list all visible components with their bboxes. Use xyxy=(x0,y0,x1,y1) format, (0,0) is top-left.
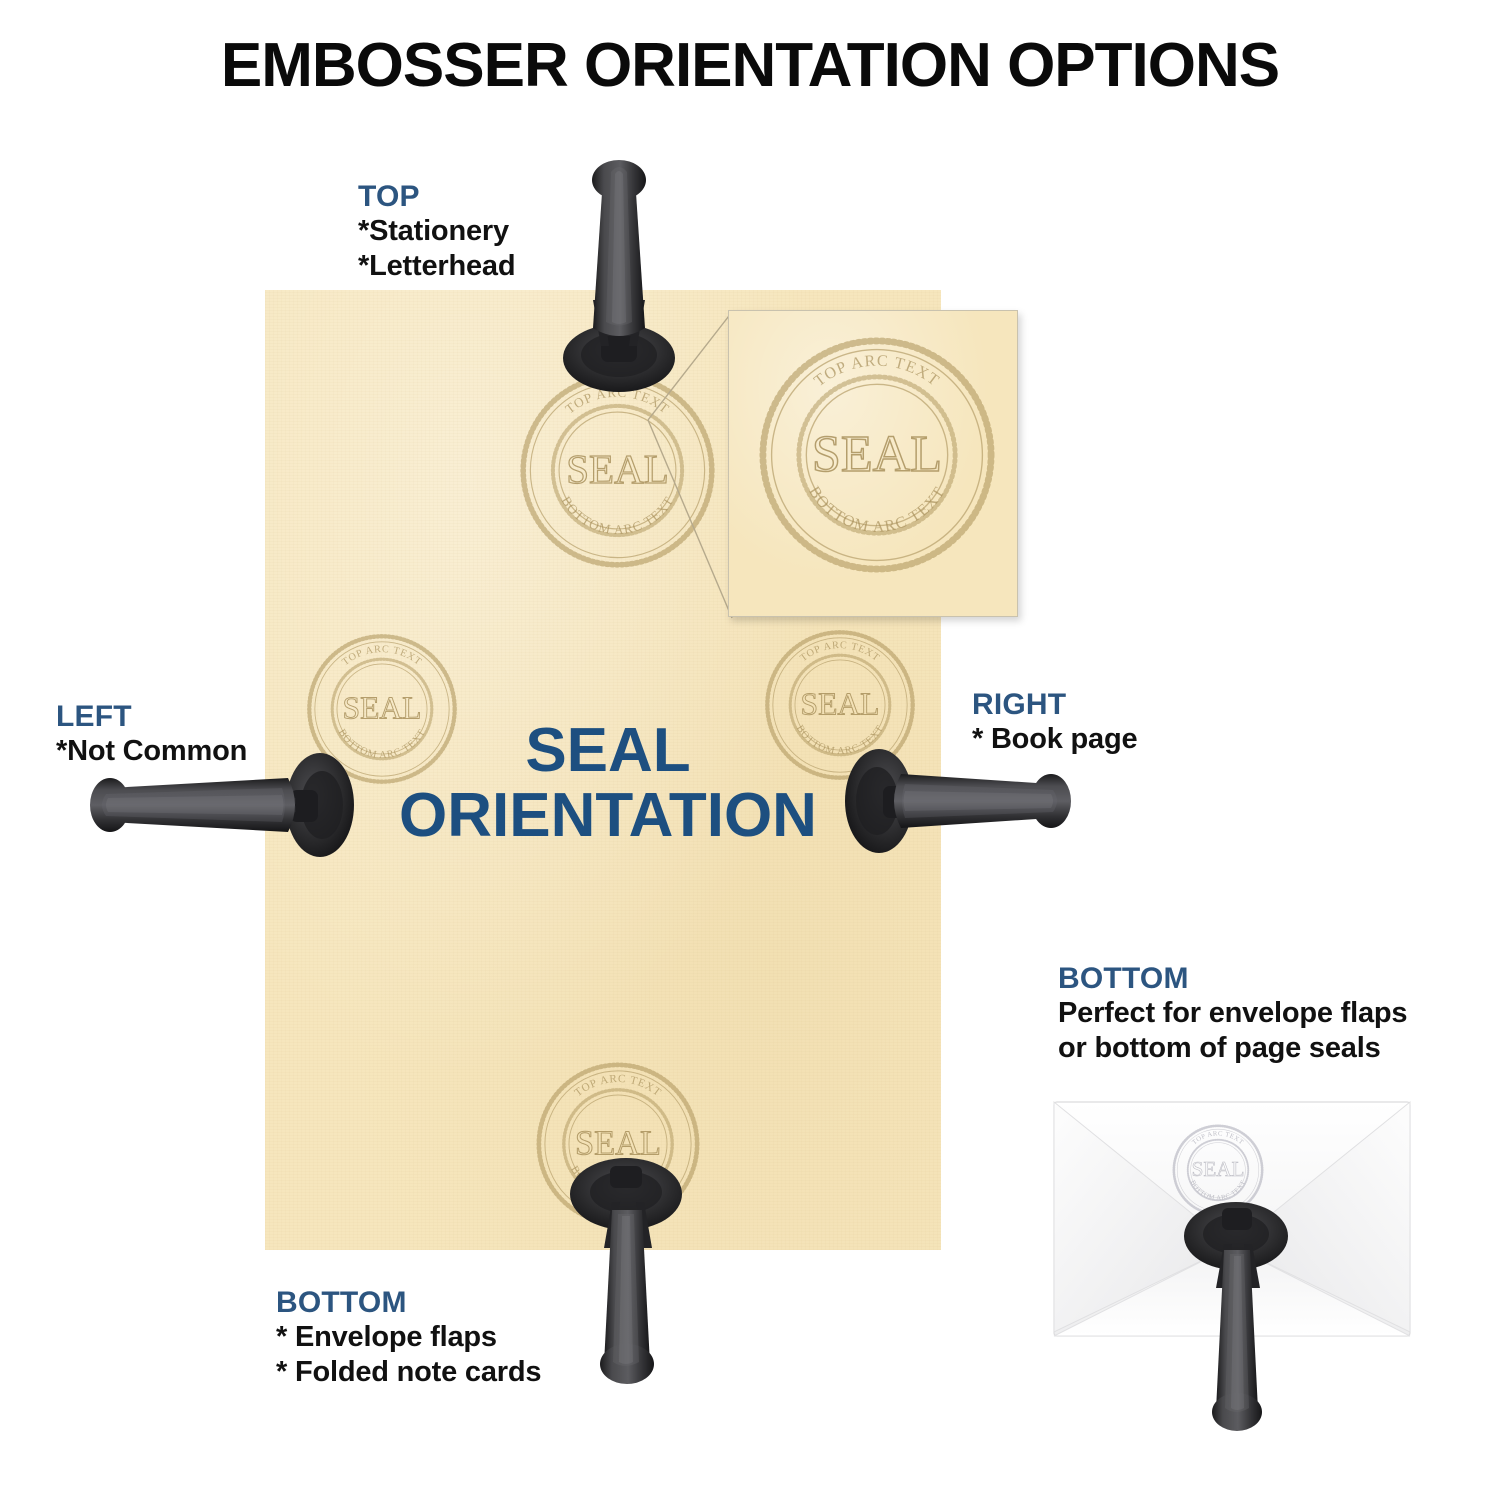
callout-label-top-line-1: *Stationery xyxy=(358,214,515,249)
envelope-illustration: TOP ARC TEXT BOTTOM ARC TEXT SEAL xyxy=(1052,1100,1412,1362)
callout-label-bottom-left-heading: BOTTOM xyxy=(276,1286,541,1320)
callout-label-left: LEFT *Not Common xyxy=(56,700,247,769)
seal-center-text: SEAL xyxy=(812,426,942,483)
callout-label-bottom-left: BOTTOM * Envelope flaps * Folded note ca… xyxy=(276,1286,541,1390)
center-caption: SEAL ORIENTATION xyxy=(338,718,878,848)
callout-label-right-line-1: * Book page xyxy=(972,722,1137,757)
page-title: EMBOSSER ORIENTATION OPTIONS xyxy=(0,30,1500,101)
seal-top-arc-text: TOP ARC TEXT xyxy=(811,353,942,391)
callout-label-top: TOP *Stationery *Letterhead xyxy=(358,180,515,284)
callout-label-bottom-right-line-2: or bottom of page seals xyxy=(1058,1031,1407,1066)
center-caption-line-1: SEAL xyxy=(525,716,690,785)
svg-text:TOP ARC TEXT: TOP ARC TEXT xyxy=(811,353,942,391)
magnified-seal-callout: TOP ARC TEXT BOTTOM ARC TEXT SEAL xyxy=(728,310,1018,617)
seal-bottom-arc-text: BOTTOM ARC TEXT xyxy=(805,484,949,536)
callout-label-top-line-2: *Letterhead xyxy=(358,249,515,284)
center-caption-line-2: ORIENTATION xyxy=(338,783,878,848)
callout-label-bottom-right-heading: BOTTOM xyxy=(1058,962,1407,996)
callout-label-right: RIGHT * Book page xyxy=(972,688,1137,757)
embossed-seal-magnified: TOP ARC TEXT BOTTOM ARC TEXT SEAL xyxy=(753,331,1001,579)
callout-label-bottom-right-line-1: Perfect for envelope flaps xyxy=(1058,996,1407,1031)
callout-label-bottom-left-line-2: * Folded note cards xyxy=(276,1355,541,1390)
callout-label-right-heading: RIGHT xyxy=(972,688,1137,722)
callout-label-bottom-right: BOTTOM Perfect for envelope flaps or bot… xyxy=(1058,962,1407,1066)
callout-label-left-heading: LEFT xyxy=(56,700,247,734)
callout-label-bottom-left-line-1: * Envelope flaps xyxy=(276,1320,541,1355)
callout-label-top-heading: TOP xyxy=(358,180,515,214)
svg-text:BOTTOM ARC TEXT: BOTTOM ARC TEXT xyxy=(805,484,949,536)
callout-label-left-line-1: *Not Common xyxy=(56,734,247,769)
